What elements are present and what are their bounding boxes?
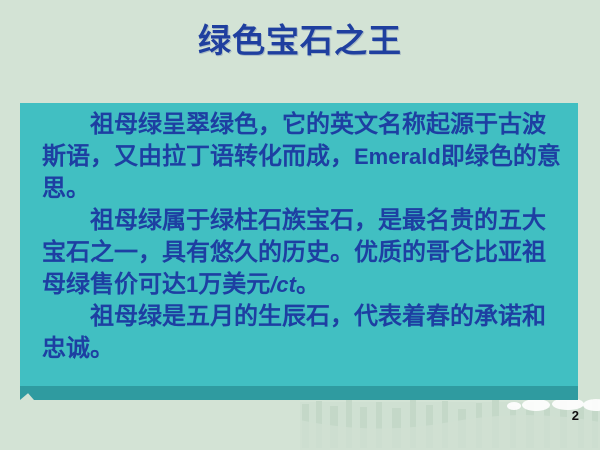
content-text-box: 祖母绿呈翠绿色，它的英文名称起源于古波斯语，又由拉丁语转化而成，Emerald即… — [20, 103, 578, 400]
text-run-latin-italic: /ct — [270, 272, 296, 297]
slide-title: 绿色宝石之王 — [0, 24, 600, 60]
page-number: 2 — [572, 408, 579, 423]
content-box-face: 祖母绿呈翠绿色，它的英文名称起源于古波斯语，又由拉丁语转化而成，Emerald即… — [20, 103, 578, 386]
paragraph-value: 祖母绿属于绿柱石族宝石，是最名贵的五大宝石之一，具有悠久的历史。优质的哥仑比亚祖… — [42, 205, 568, 301]
text-run-cjk: 。 — [296, 272, 320, 298]
paragraph-origin: 祖母绿呈翠绿色，它的英文名称起源于古波斯语，又由拉丁语转化而成，Emerald即… — [42, 109, 568, 205]
text-run-cjk: 万美元 — [198, 272, 270, 298]
slide-canvas: 绿色宝石之王 祖母绿呈翠绿色，它的英文名称起源于古波斯语，又由拉丁语转化而成，E… — [0, 0, 600, 450]
bottom-right-ornament-watermark — [300, 392, 600, 450]
text-run-cjk: 祖母绿是五月的生辰石，代表着春的承诺和忠诚。 — [42, 304, 546, 362]
text-run-latin: 1 — [186, 272, 198, 297]
content-box-bevel-bottom — [20, 384, 578, 400]
text-run-latin: Emerald — [354, 144, 441, 169]
paragraph-birthstone: 祖母绿是五月的生辰石，代表着春的承诺和忠诚。 — [42, 301, 568, 365]
